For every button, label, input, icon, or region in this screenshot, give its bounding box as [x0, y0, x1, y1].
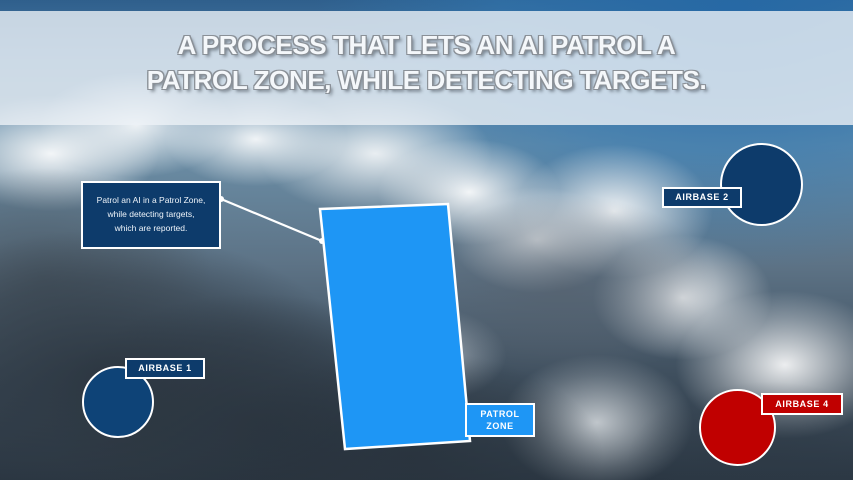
airbase-1-label[interactable]: AIRBASE 1 [125, 358, 205, 379]
callout-box: Patrol an AI in a Patrol Zone, while det… [81, 181, 221, 249]
presentation-slide: A PROCESS THAT LETS AN AI PATROL A PATRO… [0, 0, 853, 480]
airbase-2-marker[interactable] [720, 143, 803, 226]
airbase-4-label[interactable]: AIRBASE 4 [761, 393, 843, 415]
patrol-zone-polygon[interactable] [320, 204, 470, 449]
callout-box-text: Patrol an AI in a Patrol Zone, while det… [91, 194, 212, 235]
patrol-zone-label[interactable]: PATROL ZONE [465, 403, 535, 437]
airbase-2-label[interactable]: AIRBASE 2 [662, 187, 742, 208]
